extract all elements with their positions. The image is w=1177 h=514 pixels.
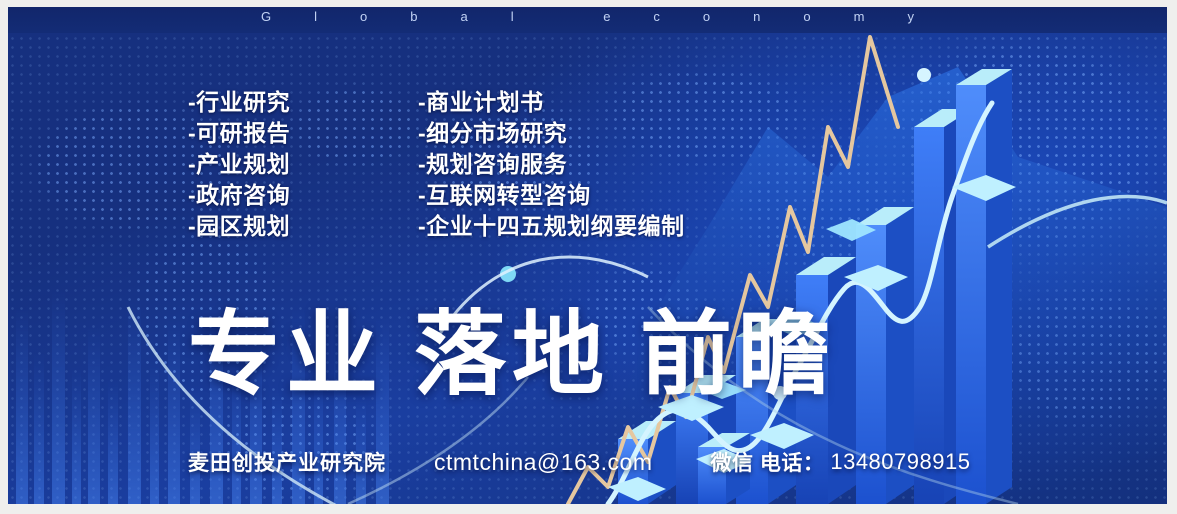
service-item: -园区规划 (188, 211, 290, 242)
curve-dot-marker-3 (917, 68, 931, 82)
promo-banner: Global economy -行业研究 -可研报告 -产业规划 -政府咨询 -… (8, 7, 1167, 504)
headline-word: 前瞻 (640, 304, 836, 406)
email-address[interactable]: ctmtchina@163.com (434, 449, 653, 476)
phone-number[interactable]: 13480798915 (830, 449, 970, 475)
service-item: -商业计划书 (418, 87, 685, 118)
contact-label: 微信 电话： (711, 447, 825, 477)
headline-word: 落地 (414, 304, 610, 406)
headline: 专业落地前瞻 (188, 307, 836, 403)
service-item: -可研报告 (188, 118, 290, 149)
service-item: -行业研究 (188, 87, 290, 118)
organization-name: 麦田创投产业研究院 (188, 447, 386, 477)
services-right-column: -商业计划书 -细分市场研究 -规划咨询服务 -互联网转型咨询 -企业十四五规划… (418, 87, 685, 242)
footer-contact-bar: 麦田创投产业研究院 ctmtchina@163.com 微信 电话： 13480… (188, 447, 970, 477)
image-frame: Global economy -行业研究 -可研报告 -产业规划 -政府咨询 -… (0, 0, 1177, 514)
service-item: -互联网转型咨询 (418, 180, 685, 211)
service-item: -产业规划 (188, 149, 290, 180)
global-economy-label: Global economy (8, 9, 1167, 24)
service-item: -规划咨询服务 (418, 149, 685, 180)
chart-artwork (8, 7, 1167, 504)
service-item: -细分市场研究 (418, 118, 685, 149)
services-left-column: -行业研究 -可研报告 -产业规划 -政府咨询 -园区规划 (188, 87, 290, 242)
service-item: -政府咨询 (188, 180, 290, 211)
service-item: -企业十四五规划纲要编制 (418, 211, 685, 242)
headline-word: 专业 (188, 304, 384, 406)
